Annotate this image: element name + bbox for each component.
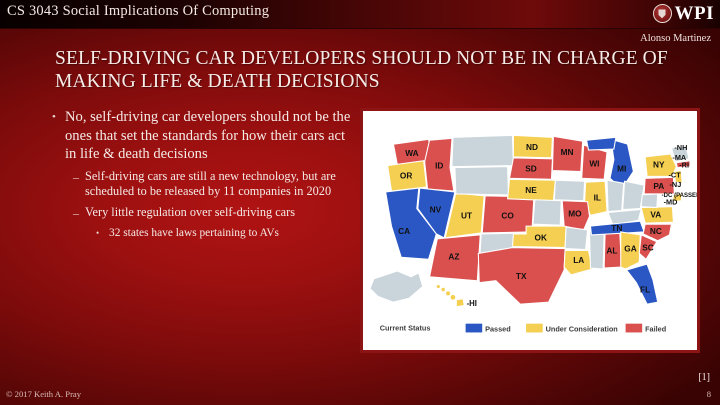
bullet-marker: • xyxy=(96,226,109,241)
legend-swatch-failed xyxy=(626,324,643,333)
state-label-AL: AL xyxy=(606,245,617,255)
state-WV xyxy=(641,194,658,208)
state-label-MN: MN xyxy=(561,147,574,157)
callout-label-CT: -CT xyxy=(669,170,682,179)
state-IA xyxy=(554,180,584,200)
state-label-TX: TX xyxy=(516,271,527,281)
bullet-marker: – xyxy=(73,169,85,200)
state-AR xyxy=(565,227,587,249)
author-name: Alonso Martinez xyxy=(640,33,711,44)
bullet-text: 32 states have laws pertaining to AVs xyxy=(109,226,279,241)
state-WY xyxy=(455,167,509,195)
state-label-WA: WA xyxy=(405,148,418,158)
state-label-AZ: AZ xyxy=(448,251,459,261)
slide-header-bar: CS 3043 Social Implications Of Computing… xyxy=(0,0,720,29)
state-MI-upper xyxy=(587,137,616,150)
wpi-seal-icon xyxy=(653,4,672,23)
state-label-SD: SD xyxy=(525,163,537,173)
legend-label-under-consideration: Under Consideration xyxy=(546,324,618,333)
map-legend: Current Status Passed Under Consideratio… xyxy=(380,323,666,333)
state-label-CO: CO xyxy=(501,210,514,220)
state-label-PA: PA xyxy=(653,181,664,191)
state-label-VA: VA xyxy=(650,209,661,219)
state-label-WI: WI xyxy=(589,159,599,169)
state-label-OR: OR xyxy=(400,170,412,180)
bullet-text: Self-driving cars are still a new techno… xyxy=(85,169,357,200)
legend-title: Current Status xyxy=(380,323,431,332)
state-label-IL: IL xyxy=(594,193,601,203)
state-label-LA: LA xyxy=(573,255,584,265)
state-label-ND: ND xyxy=(526,142,538,152)
callout-label-HI: -HI xyxy=(467,299,477,308)
state-label-OK: OK xyxy=(535,233,547,243)
state-KS xyxy=(533,200,561,225)
state-IN xyxy=(607,180,624,211)
bullet-text: Very little regulation over self-driving… xyxy=(85,205,295,221)
us-map-svg: WA OR ID CA NV UT AZ CO ND SD NE OK TX M… xyxy=(363,111,697,350)
bullet-list: • No, self-driving car developers should… xyxy=(52,108,357,241)
reference-citation: [1] xyxy=(698,372,710,383)
callout-label-RI: -RI xyxy=(679,161,689,170)
bullet-level3: • 32 states have laws pertaining to AVs xyxy=(96,226,357,241)
state-label-FL: FL xyxy=(640,284,650,294)
bullet-level1: • No, self-driving car developers should… xyxy=(52,108,357,164)
state-label-TN: TN xyxy=(611,223,622,233)
callout-label-NJ: -NJ xyxy=(669,180,681,189)
state-MS xyxy=(590,232,605,269)
state-label-NC: NC xyxy=(650,226,662,236)
slide: CS 3043 Social Implications Of Computing… xyxy=(0,0,720,405)
state-HI xyxy=(437,285,464,306)
state-label-NY: NY xyxy=(653,160,665,170)
callout-label-MD: -MD xyxy=(664,198,678,207)
legend-swatch-under-consideration xyxy=(526,324,543,333)
wpi-logo: WPI xyxy=(653,1,715,26)
state-label-SC: SC xyxy=(642,242,654,252)
state-MT xyxy=(452,135,513,166)
state-label-MI: MI xyxy=(617,163,626,173)
course-title: CS 3043 Social Implications Of Computing xyxy=(7,3,269,20)
bullet-level2: – Self-driving cars are still a new tech… xyxy=(73,169,357,200)
state-label-CA: CA xyxy=(398,226,410,236)
state-label-UT: UT xyxy=(461,210,472,220)
bullet-marker: • xyxy=(52,108,65,164)
page-number: 8 xyxy=(707,389,711,399)
legend-label-failed: Failed xyxy=(645,324,666,333)
callout-label-NH: -NH xyxy=(674,143,687,152)
copyright-notice: © 2017 Keith A. Pray xyxy=(6,389,81,399)
state-AK xyxy=(370,271,423,302)
state-label-ID: ID xyxy=(435,161,443,171)
bullet-text: No, self-driving car developers should n… xyxy=(65,108,357,164)
state-label-NE: NE xyxy=(525,185,537,195)
wpi-logo-text: WPI xyxy=(675,4,715,23)
legend-label-passed: Passed xyxy=(485,324,511,333)
map-states xyxy=(370,135,690,306)
state-label-GA: GA xyxy=(624,243,636,253)
state-label-MO: MO xyxy=(568,208,582,218)
us-map-image: WA OR ID CA NV UT AZ CO ND SD NE OK TX M… xyxy=(360,108,700,353)
page-title: SELF-DRIVING CAR DEVELOPERS SHOULD NOT B… xyxy=(55,47,680,93)
legend-swatch-passed xyxy=(466,324,483,333)
bullet-level2: – Very little regulation over self-drivi… xyxy=(73,205,357,221)
bullet-marker: – xyxy=(73,205,85,221)
state-label-NV: NV xyxy=(430,204,442,214)
